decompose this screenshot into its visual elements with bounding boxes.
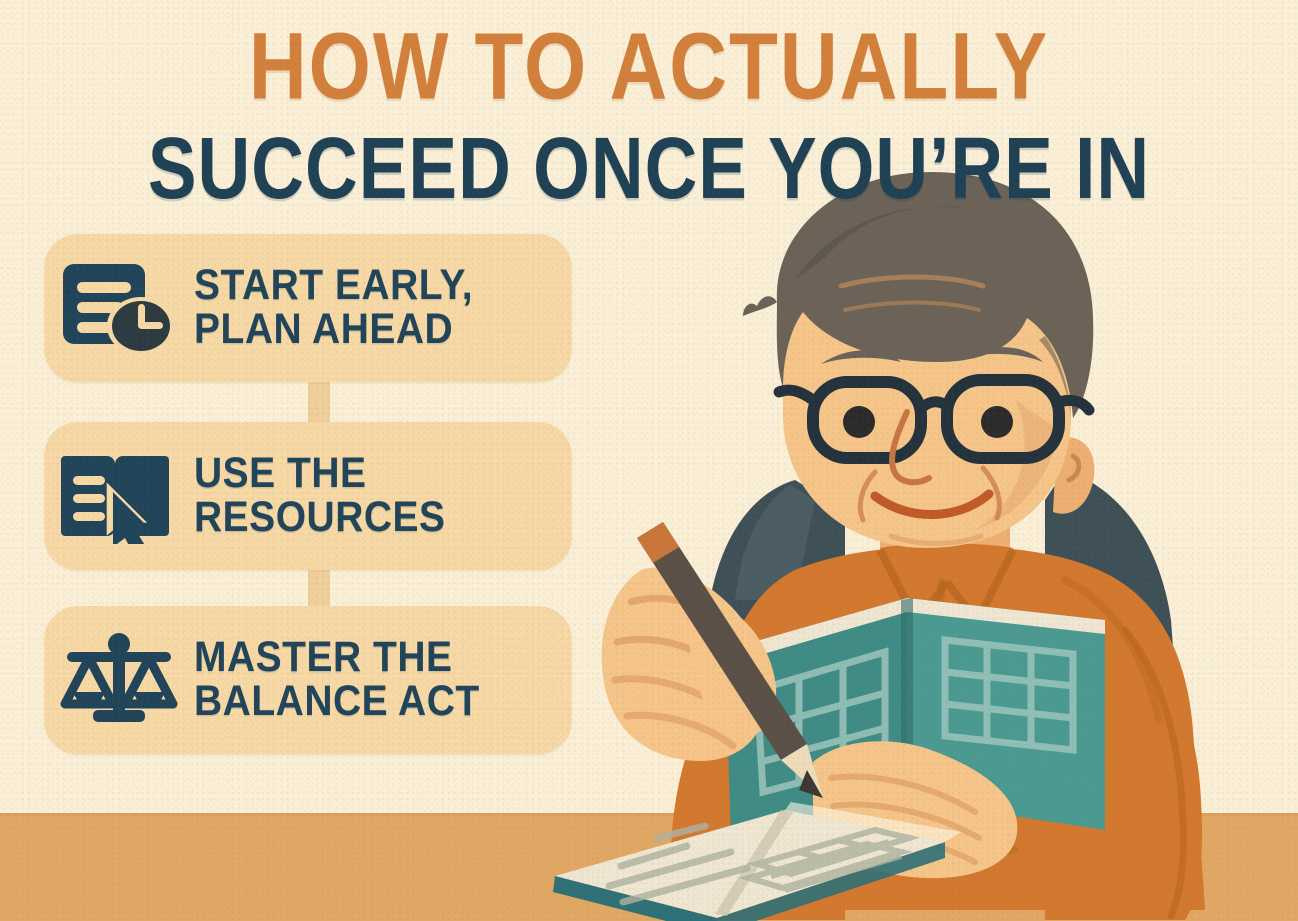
- infographic-canvas: HOW TO ACTUALLY SUCCEED ONCE YOU’RE IN S…: [0, 0, 1298, 921]
- tip-card-line-1: MASTER THE: [194, 636, 480, 680]
- headline-line-2: SUCCEED ONCE YOU’RE IN: [0, 125, 1298, 213]
- tip-card-line-1: START EARLY,: [194, 264, 473, 308]
- eye-left: [843, 406, 875, 438]
- document-clock-icon: [44, 260, 194, 356]
- tip-card-use-resources[interactable]: USE THE RESOURCES: [44, 422, 572, 570]
- book-cursor-icon: [44, 448, 194, 544]
- tip-card-line-2: RESOURCES: [194, 496, 446, 540]
- tip-card-text: START EARLY, PLAN AHEAD: [194, 264, 473, 351]
- tip-card-start-early[interactable]: START EARLY, PLAN AHEAD: [44, 234, 572, 382]
- illustration-man-studying: [545, 150, 1298, 921]
- balance-scales-icon: [44, 632, 194, 728]
- headline-line-1: HOW TO ACTUALLY: [0, 22, 1298, 113]
- tip-card-line-1: USE THE: [194, 452, 446, 496]
- tip-card-line-2: PLAN AHEAD: [194, 308, 473, 352]
- headline: HOW TO ACTUALLY SUCCEED ONCE YOU’RE IN: [0, 22, 1298, 198]
- tip-card-text: MASTER THE BALANCE ACT: [194, 636, 480, 723]
- tip-card-line-2: BALANCE ACT: [194, 680, 480, 724]
- tip-card-text: USE THE RESOURCES: [194, 452, 446, 539]
- eye-right: [981, 406, 1013, 438]
- tip-card-balance-act[interactable]: MASTER THE BALANCE ACT: [44, 606, 572, 754]
